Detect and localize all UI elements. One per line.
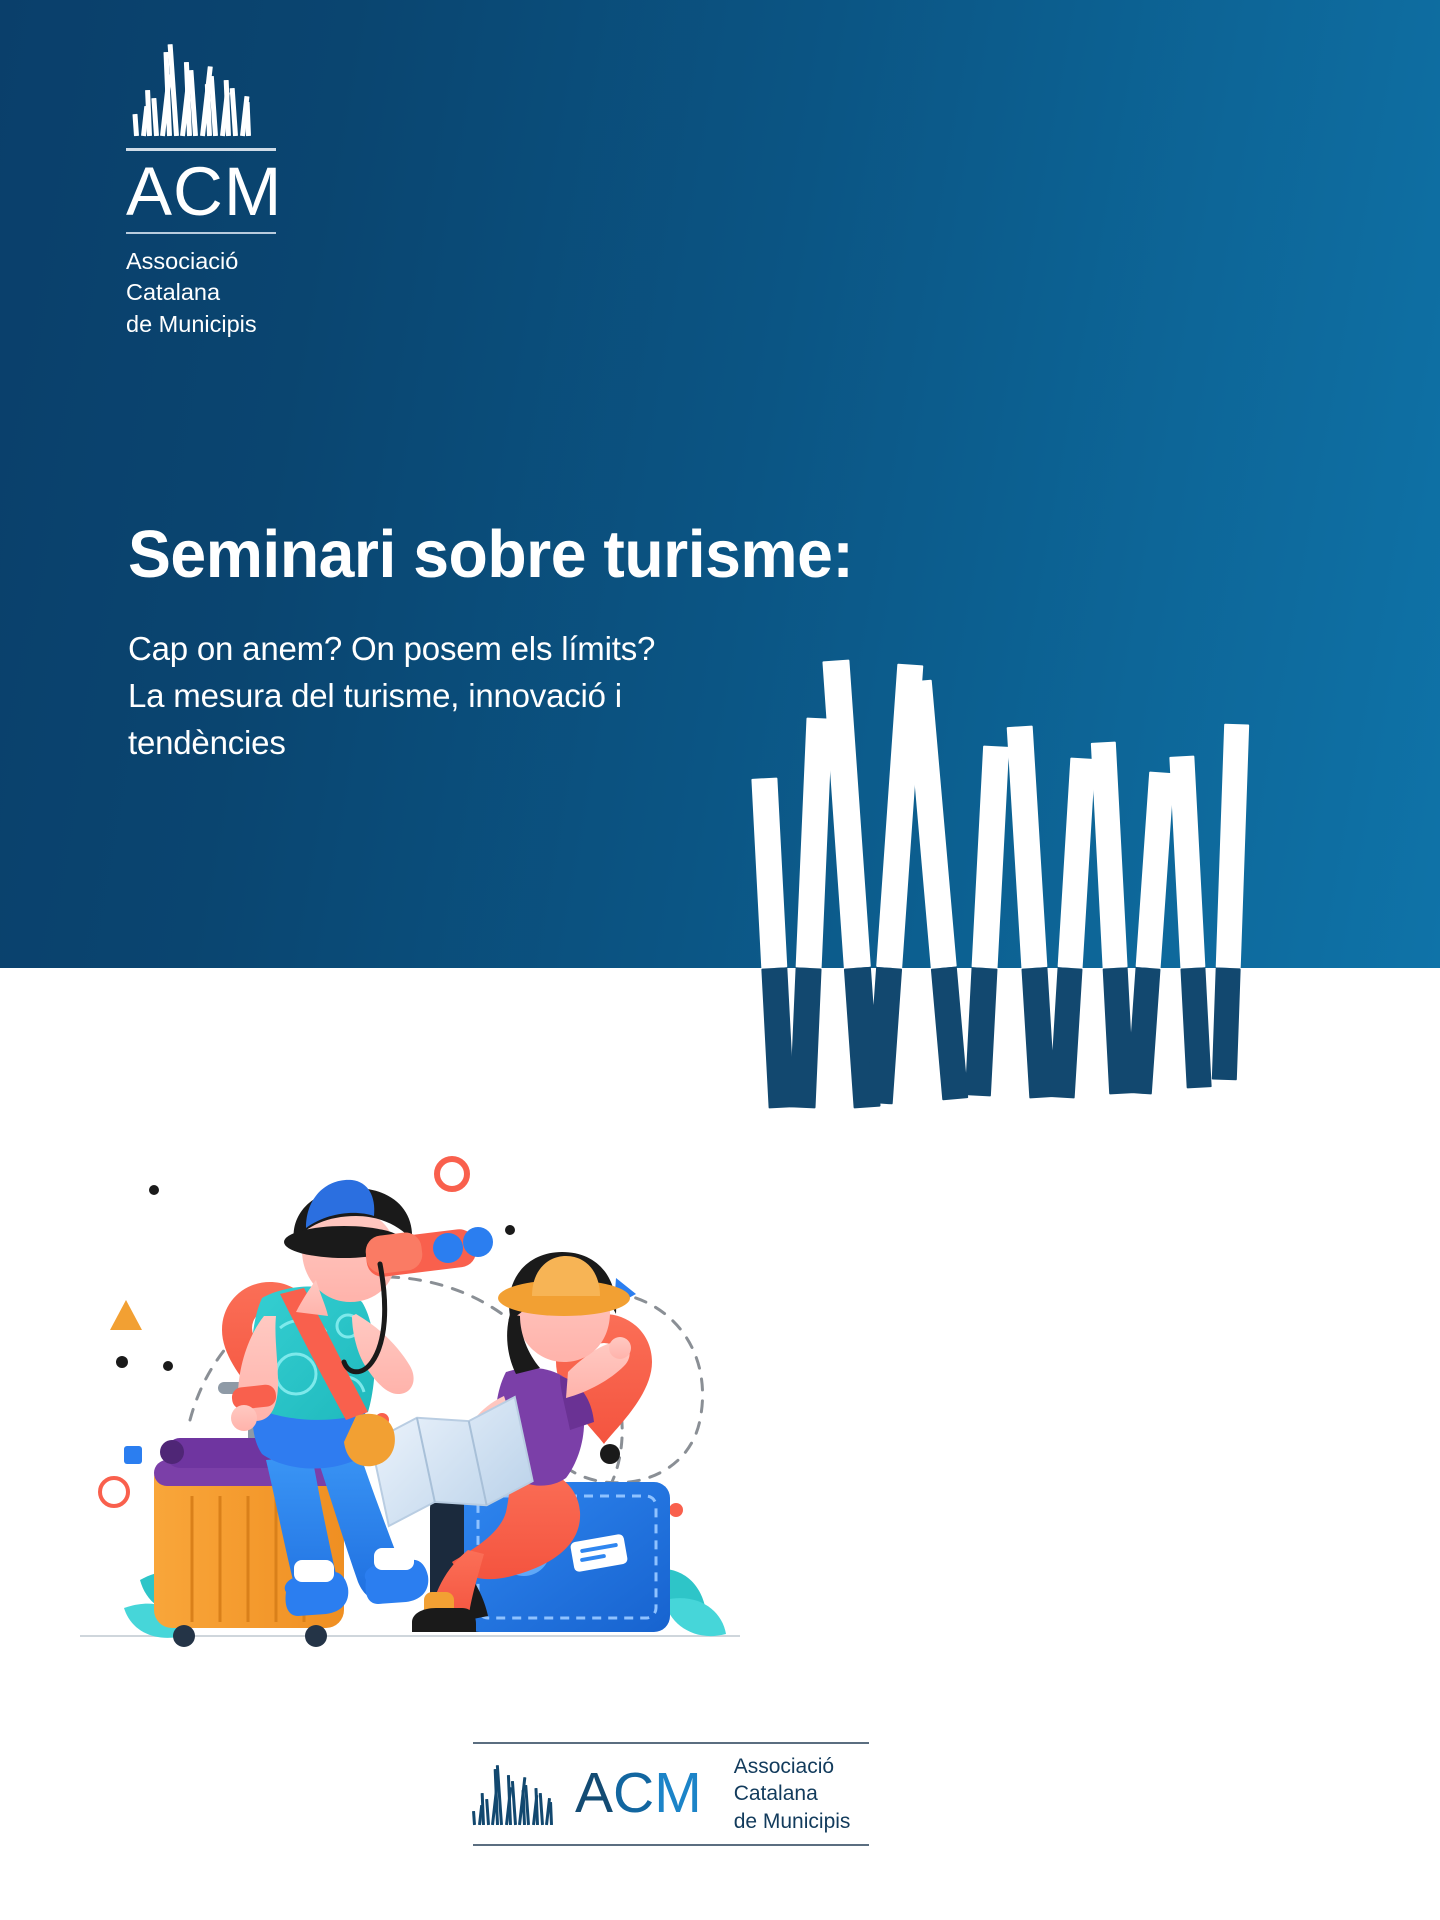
logo-mark-bar <box>472 1811 476 1825</box>
logo-mark-bar <box>538 1793 543 1825</box>
travellers-illustration <box>80 1130 900 1690</box>
decorative-bar-lower <box>844 967 881 1109</box>
page-subtitle-line-3: tendències <box>128 720 1028 767</box>
title-block: Seminari sobre turisme: Cap on anem? On … <box>128 520 1028 767</box>
logo-mark-bar <box>230 88 238 136</box>
footer-logo-subtitle-line-1: Associació <box>734 1753 851 1780</box>
decorative-bar-lower <box>761 967 794 1108</box>
decorative-bar-lower <box>1103 967 1135 1094</box>
footer-logo-subtitle: Associació Catalana de Municipis <box>734 1753 851 1835</box>
decorative-bar-lower <box>965 967 998 1096</box>
logo-mark-bar <box>485 1799 490 1825</box>
decorative-bar-lower <box>867 967 902 1104</box>
decorative-bar-lower <box>1212 968 1241 1081</box>
footer-logo-subtitle-line-2: Catalana <box>734 1780 851 1807</box>
hero-banner: ACM Associació Catalana de Municipis Sem… <box>0 0 1440 968</box>
acm-bar-mark-icon <box>473 1763 561 1825</box>
decorative-bar-lower <box>1050 967 1083 1098</box>
logo-mark-bar <box>151 98 159 136</box>
footer-wordmark: A C M <box>575 1765 702 1822</box>
footer-wordmark-letter-m: M <box>654 1765 701 1822</box>
logo-mark-bar <box>549 1802 553 1825</box>
logo-mark-bar <box>132 114 139 136</box>
logo-rule-bottom <box>126 232 276 234</box>
logo-mark-bar <box>481 1793 486 1825</box>
footer-wordmark-letter-c: C <box>613 1765 654 1822</box>
header-logo: ACM Associació Catalana de Municipis <box>126 36 386 340</box>
footer-logo-row: A C M Associació Catalana de Municipis <box>473 1744 973 1844</box>
decorative-bar-lower <box>931 967 968 1101</box>
decorative-bar-lower <box>1127 967 1161 1094</box>
logo-mark-bar <box>145 90 152 136</box>
acm-bar-mark-icon <box>134 36 254 136</box>
footer-logo: A C M Associació Catalana de Municipis <box>473 1742 973 1846</box>
page-subtitle-line-1: Cap on anem? On posem els límits? <box>128 626 1028 673</box>
footer-wordmark-letter-a: A <box>575 1765 613 1822</box>
logo-mark-bar <box>245 102 251 136</box>
header-logo-subtitle-line-2: Catalana <box>126 277 386 308</box>
header-wordmark: ACM <box>126 157 386 226</box>
decorative-bar-lower <box>790 967 822 1108</box>
page-subtitle-line-2: La mesura del turisme, innovació i <box>128 673 1028 720</box>
header-logo-subtitle-line-1: Associació <box>126 246 386 277</box>
decorative-bar-lower <box>1021 967 1055 1098</box>
logo-rule-top <box>126 148 276 151</box>
decorative-bar-lower <box>1180 967 1211 1088</box>
header-logo-subtitle-line-3: de Municipis <box>126 309 386 340</box>
page-title: Seminari sobre turisme: <box>128 520 992 590</box>
poster-page: ACM Associació Catalana de Municipis Sem… <box>0 0 1440 1920</box>
footer-logo-subtitle-line-3: de Municipis <box>734 1808 851 1835</box>
footer-rule-bottom <box>473 1844 869 1846</box>
page-subtitle: Cap on anem? On posem els límits? La mes… <box>128 626 1028 767</box>
header-logo-subtitle: Associació Catalana de Municipis <box>126 246 386 340</box>
